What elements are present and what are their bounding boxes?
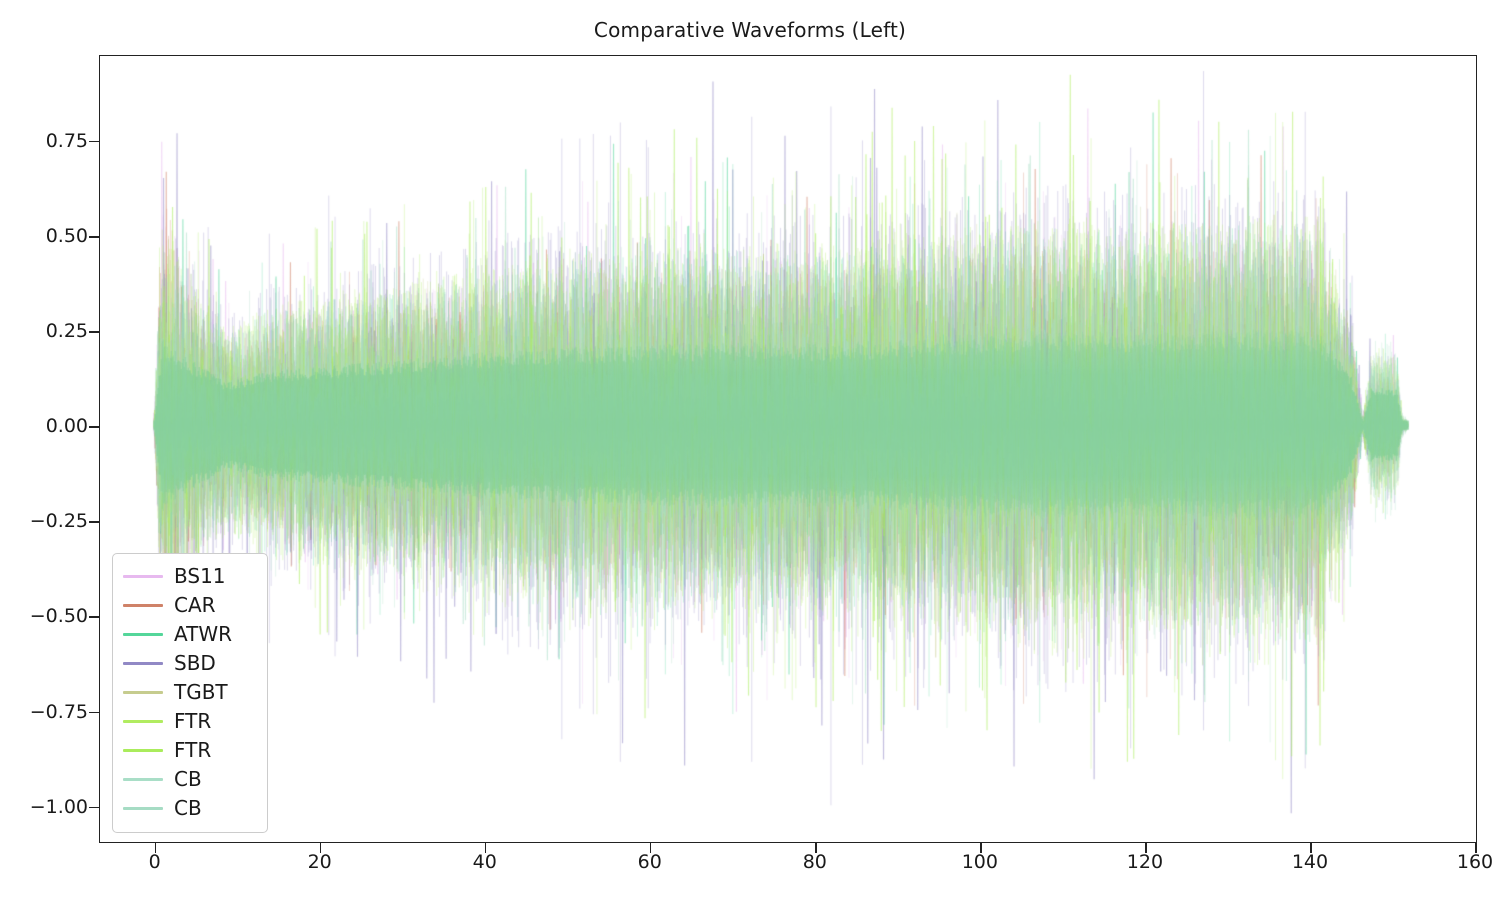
figure-canvas: Comparative Waveforms (Left) 0.750.500.2… — [0, 0, 1500, 900]
x-tick-label: 140 — [1265, 851, 1355, 873]
legend-item-tgbt-4[interactable]: TGBT — [123, 678, 257, 707]
legend-color-swatch — [123, 604, 163, 607]
x-tick-mark — [815, 843, 817, 853]
y-tick-mark — [89, 141, 99, 143]
y-tick-label: −1.00 — [0, 796, 88, 818]
y-tick-label: 0.50 — [0, 225, 88, 247]
legend-color-swatch — [123, 720, 163, 723]
x-tick-label: 100 — [935, 851, 1025, 873]
x-tick-mark — [1310, 843, 1312, 853]
legend-item-label: TGBT — [174, 678, 228, 707]
legend-item-label: FTR — [174, 736, 211, 765]
legend-color-swatch — [123, 749, 163, 752]
legend-item-atwr-2[interactable]: ATWR — [123, 620, 257, 649]
legend-item-label: SBD — [174, 649, 216, 678]
x-tick-mark — [320, 843, 322, 853]
y-tick-label: 0.00 — [0, 415, 88, 437]
legend-color-swatch — [123, 633, 163, 636]
y-tick-label: −0.25 — [0, 510, 88, 532]
y-tick-label: 0.25 — [0, 320, 88, 342]
x-tick-label: 160 — [1430, 851, 1500, 873]
y-tick-mark — [89, 426, 99, 428]
x-tick-mark — [1145, 843, 1147, 853]
x-tick-label: 60 — [605, 851, 695, 873]
x-tick-mark — [1475, 843, 1477, 853]
waveform-plot — [100, 56, 1474, 840]
legend-item-cb-8[interactable]: CB — [123, 794, 257, 823]
y-tick-label: −0.50 — [0, 605, 88, 627]
x-tick-mark — [485, 843, 487, 853]
legend[interactable]: BS11CARATWRSBDTGBTFTRFTRCBCB — [112, 553, 268, 833]
legend-item-label: BS11 — [174, 562, 226, 591]
legend-item-label: FTR — [174, 707, 211, 736]
y-tick-mark — [89, 712, 99, 714]
x-tick-mark — [155, 843, 157, 853]
legend-item-sbd-3[interactable]: SBD — [123, 649, 257, 678]
plot-area — [99, 55, 1477, 843]
legend-item-ftr-5[interactable]: FTR — [123, 707, 257, 736]
y-tick-mark — [89, 807, 99, 809]
legend-item-label: CB — [174, 765, 202, 794]
legend-item-label: CB — [174, 794, 202, 823]
legend-item-bs11-0[interactable]: BS11 — [123, 562, 257, 591]
page-title: Comparative Waveforms (Left) — [0, 16, 1500, 44]
legend-color-swatch — [123, 807, 163, 810]
legend-item-label: CAR — [174, 591, 216, 620]
x-tick-label: 20 — [275, 851, 365, 873]
y-tick-mark — [89, 521, 99, 523]
y-tick-label: −0.75 — [0, 701, 88, 723]
x-tick-label: 40 — [440, 851, 530, 873]
legend-color-swatch — [123, 691, 163, 694]
legend-color-swatch — [123, 778, 163, 781]
legend-item-cb-7[interactable]: CB — [123, 765, 257, 794]
legend-color-swatch — [123, 575, 163, 578]
legend-item-label: ATWR — [174, 620, 232, 649]
y-tick-label: 0.75 — [0, 130, 88, 152]
x-tick-label: 80 — [770, 851, 860, 873]
x-tick-mark — [980, 843, 982, 853]
x-tick-label: 120 — [1100, 851, 1190, 873]
y-tick-mark — [89, 331, 99, 333]
legend-item-ftr-6[interactable]: FTR — [123, 736, 257, 765]
y-tick-mark — [89, 616, 99, 618]
y-tick-mark — [89, 236, 99, 238]
legend-color-swatch — [123, 662, 163, 665]
x-tick-mark — [650, 843, 652, 853]
x-tick-label: 0 — [110, 851, 200, 873]
legend-item-car-1[interactable]: CAR — [123, 591, 257, 620]
